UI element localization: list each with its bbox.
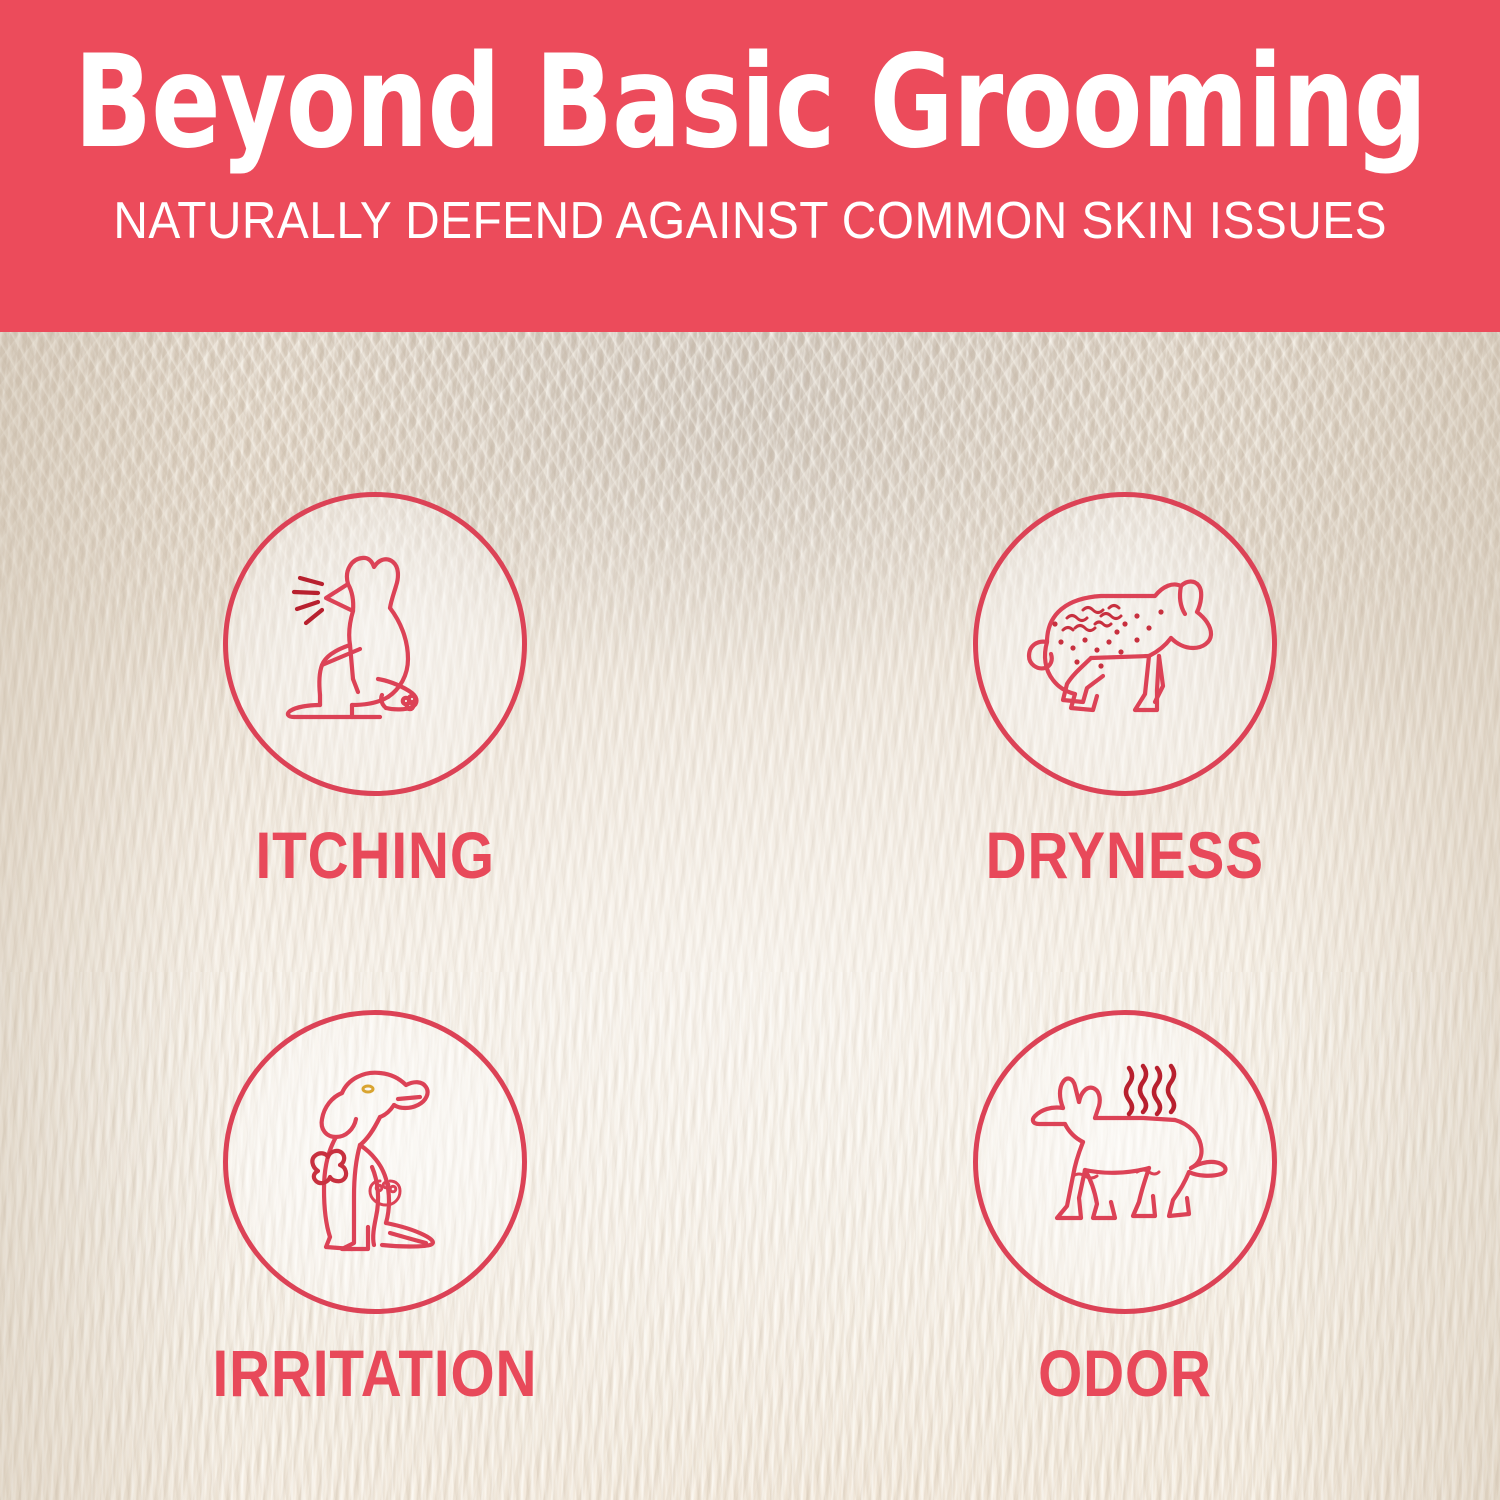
header-banner: Beyond Basic Grooming NATURALLY DEFEND A…	[0, 0, 1500, 332]
benefit-circle-dryness	[973, 492, 1277, 796]
benefit-circle-itching	[223, 492, 527, 796]
dog-scratching-icon	[260, 529, 490, 759]
benefit-circle-odor	[973, 1010, 1277, 1314]
dog-dry-flaky-skin-icon	[1005, 524, 1245, 764]
benefit-label-irritation: IRRITATION	[213, 1340, 538, 1406]
benefit-item-dryness: DRYNESS	[750, 332, 1500, 916]
dog-odor-icon	[1003, 1040, 1247, 1284]
benefit-circle-irritation	[223, 1010, 527, 1314]
benefit-item-odor: ODOR	[750, 916, 1500, 1500]
benefit-label-odor: ODOR	[1038, 1340, 1212, 1406]
benefit-label-dryness: DRYNESS	[986, 822, 1264, 888]
benefits-grid: ITCHING	[0, 332, 1500, 1500]
page-subtitle: NATURALLY DEFEND AGAINST COMMON SKIN ISS…	[113, 193, 1387, 250]
dog-irritated-patch-icon	[260, 1047, 490, 1277]
benefit-item-irritation: IRRITATION	[0, 916, 750, 1500]
page-title: Beyond Basic Grooming	[74, 38, 1426, 169]
benefit-item-itching: ITCHING	[0, 332, 750, 916]
benefit-label-itching: ITCHING	[255, 822, 494, 888]
promo-graphic: Beyond Basic Grooming NATURALLY DEFEND A…	[0, 0, 1500, 1500]
